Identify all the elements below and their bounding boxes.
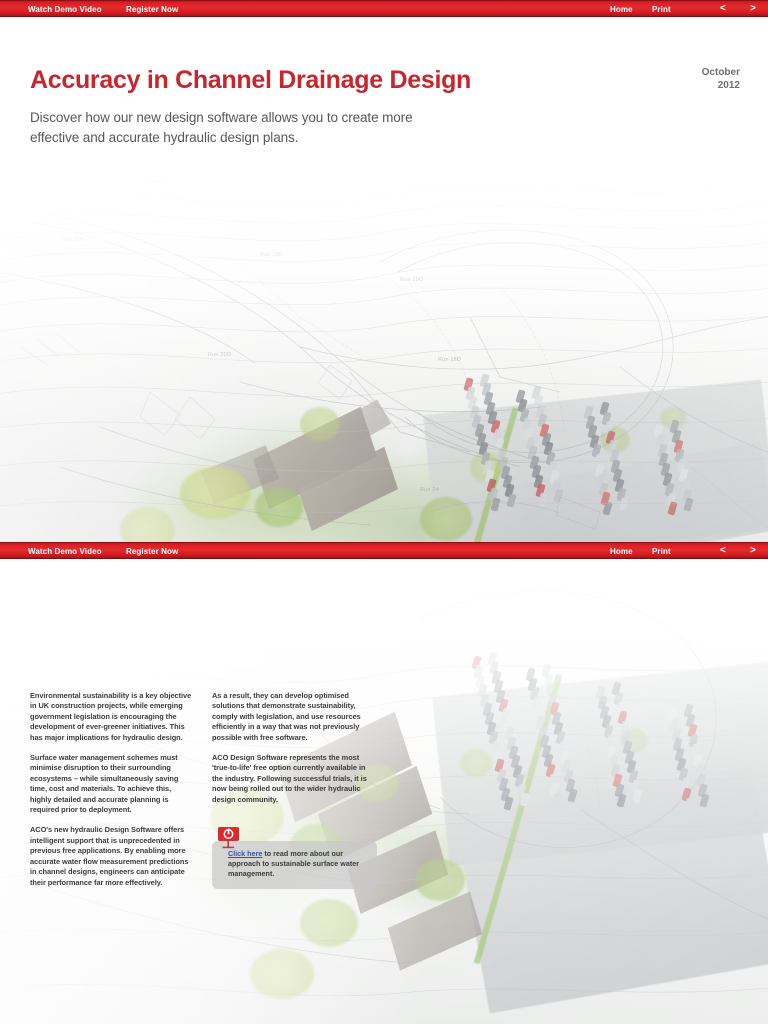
issue-year: 2012	[702, 80, 740, 93]
summary-paragraph: Surface water management schemes must mi…	[30, 753, 192, 815]
callout-box: Click here to read more about our approa…	[212, 841, 377, 889]
nav2-home[interactable]: Home	[610, 543, 633, 560]
page-title: Accuracy in Channel Drainage Design	[30, 66, 471, 95]
map-marker-sign-icon	[216, 825, 242, 851]
cad-run-label: Run 19D	[400, 277, 423, 283]
cad-run-label: Run 19D	[260, 252, 283, 258]
cad-run-label: Run 20D	[208, 352, 231, 358]
issue-date: October 2012	[702, 67, 740, 92]
nav2-print[interactable]: Print	[652, 543, 671, 560]
cad-drainage-overlay	[0, 167, 768, 543]
summary-left-column: Environmental sustainability is a key ob…	[30, 691, 192, 898]
cad-run-label: Run 24	[420, 487, 439, 493]
nav-register-now[interactable]: Register Now	[126, 1, 178, 18]
issue-month: October	[702, 67, 740, 80]
summary-paragraph: ACO's new hydraulic Design Software offe…	[30, 825, 192, 887]
nav2-watch-demo-video[interactable]: Watch Demo Video	[28, 543, 102, 560]
nav-home[interactable]: Home	[610, 1, 633, 18]
nav-next-page-arrow-icon[interactable]: >	[750, 1, 756, 18]
nav-print[interactable]: Print	[652, 1, 671, 18]
aerial-photograph: Run 19CRun 20DRun 19DRun 19DRun 20DRun 1…	[0, 167, 768, 543]
summary-paragraph: Environmental sustainability is a key ob…	[30, 691, 192, 743]
newsletter-page: Watch Demo Video Register Now Home Print…	[0, 0, 768, 1024]
cad-run-label: Run 18D	[438, 357, 461, 363]
secondary-navigation-bar: Watch Demo Video Register Now Home Print…	[0, 542, 768, 559]
executive-summary-page: Executive Summary Environmental sustaina…	[0, 559, 768, 1024]
nav-watch-demo-video[interactable]: Watch Demo Video	[28, 1, 102, 18]
header-block: Accuracy in Channel Drainage Design Disc…	[0, 17, 768, 167]
nav2-next-page-arrow-icon[interactable]: >	[750, 543, 756, 560]
nav2-register-now[interactable]: Register Now	[126, 543, 178, 560]
nav-previous-page-arrow-icon[interactable]: <	[720, 1, 726, 18]
summary-paragraph: ACO Design Software represents the most …	[212, 753, 374, 805]
nav2-previous-page-arrow-icon[interactable]: <	[720, 543, 726, 560]
hero-aerial-cad-image: Run 19CRun 20DRun 19DRun 19DRun 20DRun 1…	[0, 167, 768, 543]
top-navigation-bar: Watch Demo Video Register Now Home Print…	[0, 0, 768, 17]
page-subtitle: Discover how our new design software all…	[30, 108, 430, 147]
summary-right-column: As a result, they can develop optimised …	[212, 691, 374, 815]
cad-run-label: Run 19C	[148, 179, 171, 185]
cad-run-label: Run 20D	[62, 237, 85, 243]
summary-paragraph: As a result, they can develop optimised …	[212, 691, 374, 743]
